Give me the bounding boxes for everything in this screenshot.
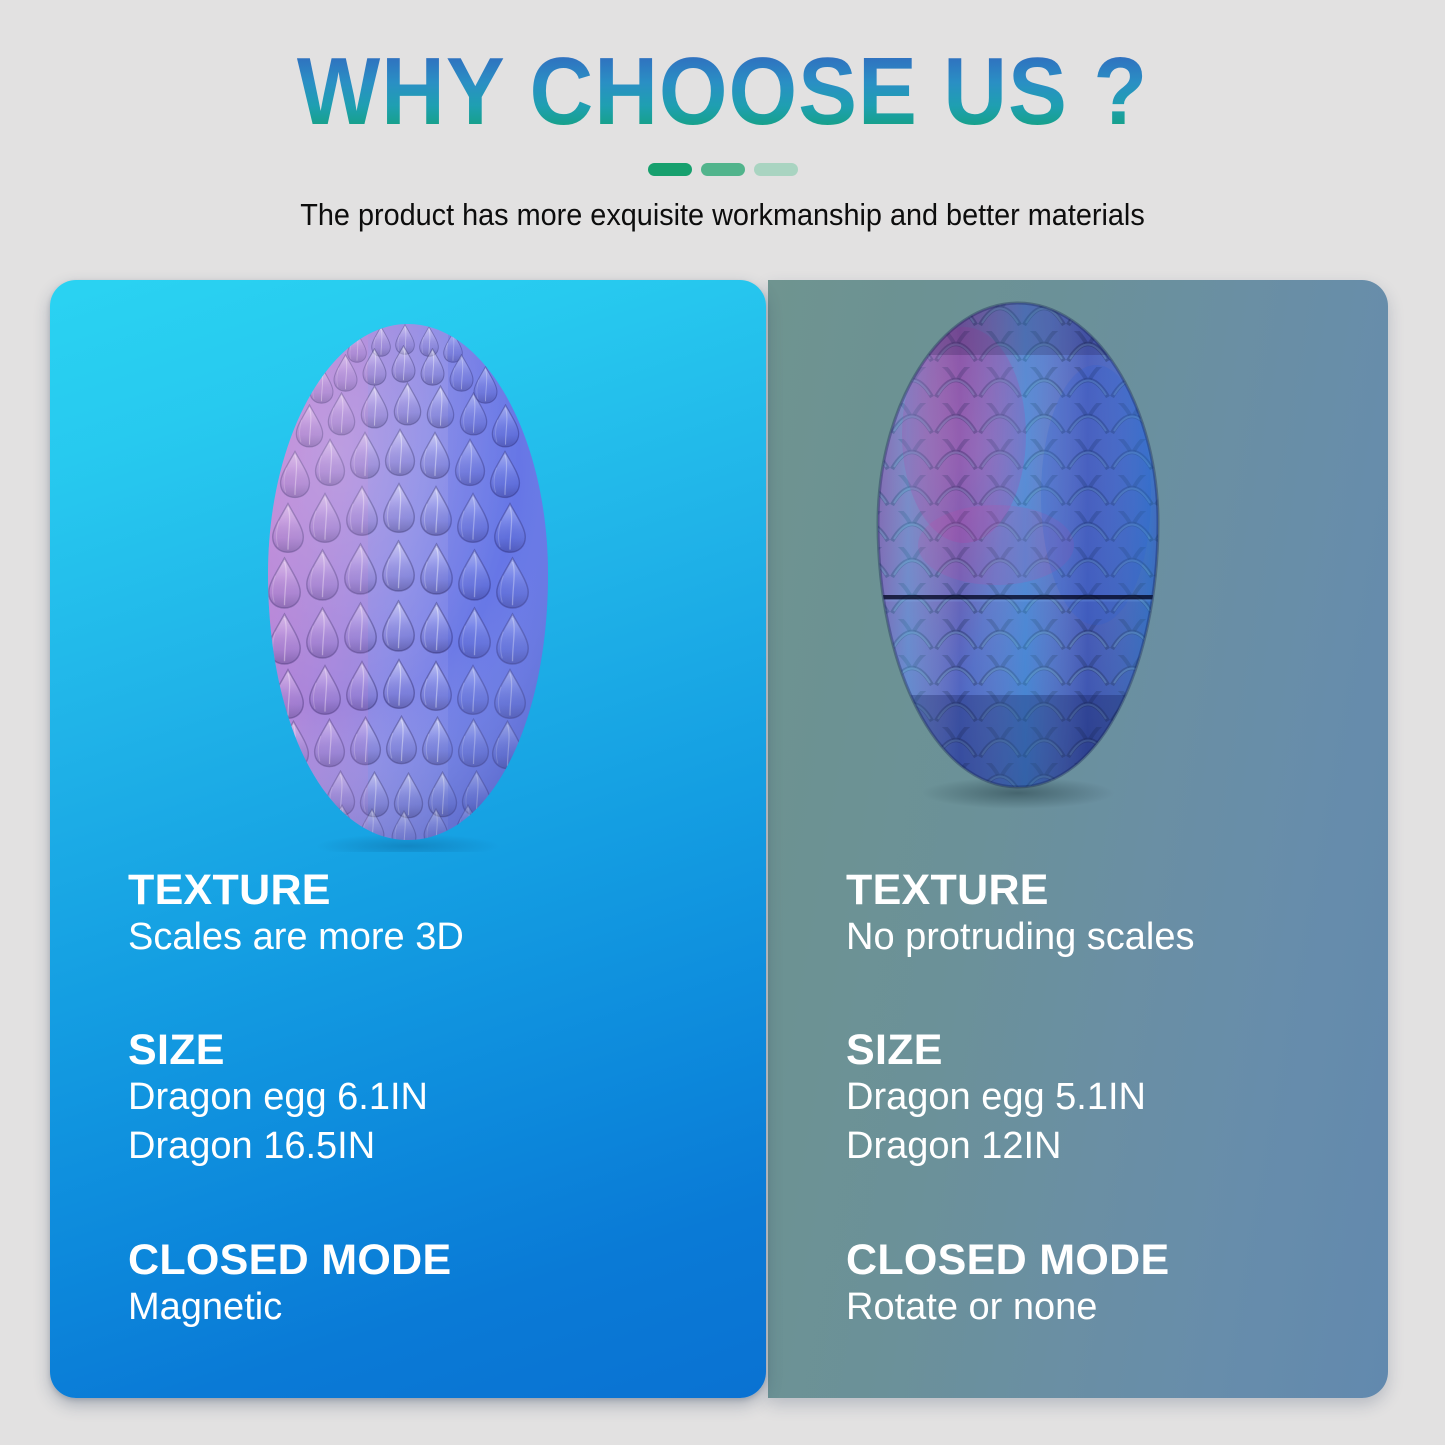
spec-heading: CLOSED MODE xyxy=(128,1238,451,1283)
spec-line: Scales are more 3D xyxy=(128,913,464,962)
spec-heading: TEXTURE xyxy=(128,868,464,913)
divider-dash-2 xyxy=(701,163,745,176)
title-divider-dashes xyxy=(0,163,1445,176)
comparison-section: TEXTURE No protruding scales SIZE Dragon… xyxy=(0,280,1445,1400)
spec-closed-mode-other: CLOSED MODE Rotate or none xyxy=(846,1238,1169,1332)
page-title: WHY CHOOSE US ? xyxy=(58,44,1387,140)
spec-line: Dragon 12IN xyxy=(846,1122,1146,1171)
spec-heading: TEXTURE xyxy=(846,868,1195,913)
divider-dash-1 xyxy=(648,163,692,176)
divider-dash-3 xyxy=(754,163,798,176)
spec-line: Dragon egg 6.1IN xyxy=(128,1073,428,1122)
spec-line: Magnetic xyxy=(128,1283,451,1332)
spec-texture-ours: TEXTURE Scales are more 3D xyxy=(128,868,464,962)
comparison-card-other: TEXTURE No protruding scales SIZE Dragon… xyxy=(768,280,1388,1398)
spec-heading: CLOSED MODE xyxy=(846,1238,1169,1283)
comparison-card-ours: TEXTURE Scales are more 3D SIZE Dragon e… xyxy=(50,280,766,1398)
infographic-page: WHY CHOOSE US ? The product has more exq… xyxy=(0,0,1445,1445)
spec-line: Rotate or none xyxy=(846,1283,1169,1332)
spec-size-other: SIZE Dragon egg 5.1IN Dragon 12IN xyxy=(846,1028,1146,1170)
spec-heading: SIZE xyxy=(846,1028,1146,1073)
spec-line: No protruding scales xyxy=(846,913,1195,962)
product-image-other xyxy=(846,295,1191,815)
spec-line: Dragon egg 5.1IN xyxy=(846,1073,1146,1122)
spec-texture-other: TEXTURE No protruding scales xyxy=(846,868,1195,962)
spec-size-ours: SIZE Dragon egg 6.1IN Dragon 16.5IN xyxy=(128,1028,428,1170)
header-section: WHY CHOOSE US ? The product has more exq… xyxy=(0,0,1445,265)
spec-line: Dragon 16.5IN xyxy=(128,1122,428,1171)
spec-closed-mode-ours: CLOSED MODE Magnetic xyxy=(128,1238,451,1332)
page-subtitle: The product has more exquisite workmansh… xyxy=(51,197,1395,233)
product-image-ours xyxy=(218,312,598,852)
spec-heading: SIZE xyxy=(128,1028,428,1073)
